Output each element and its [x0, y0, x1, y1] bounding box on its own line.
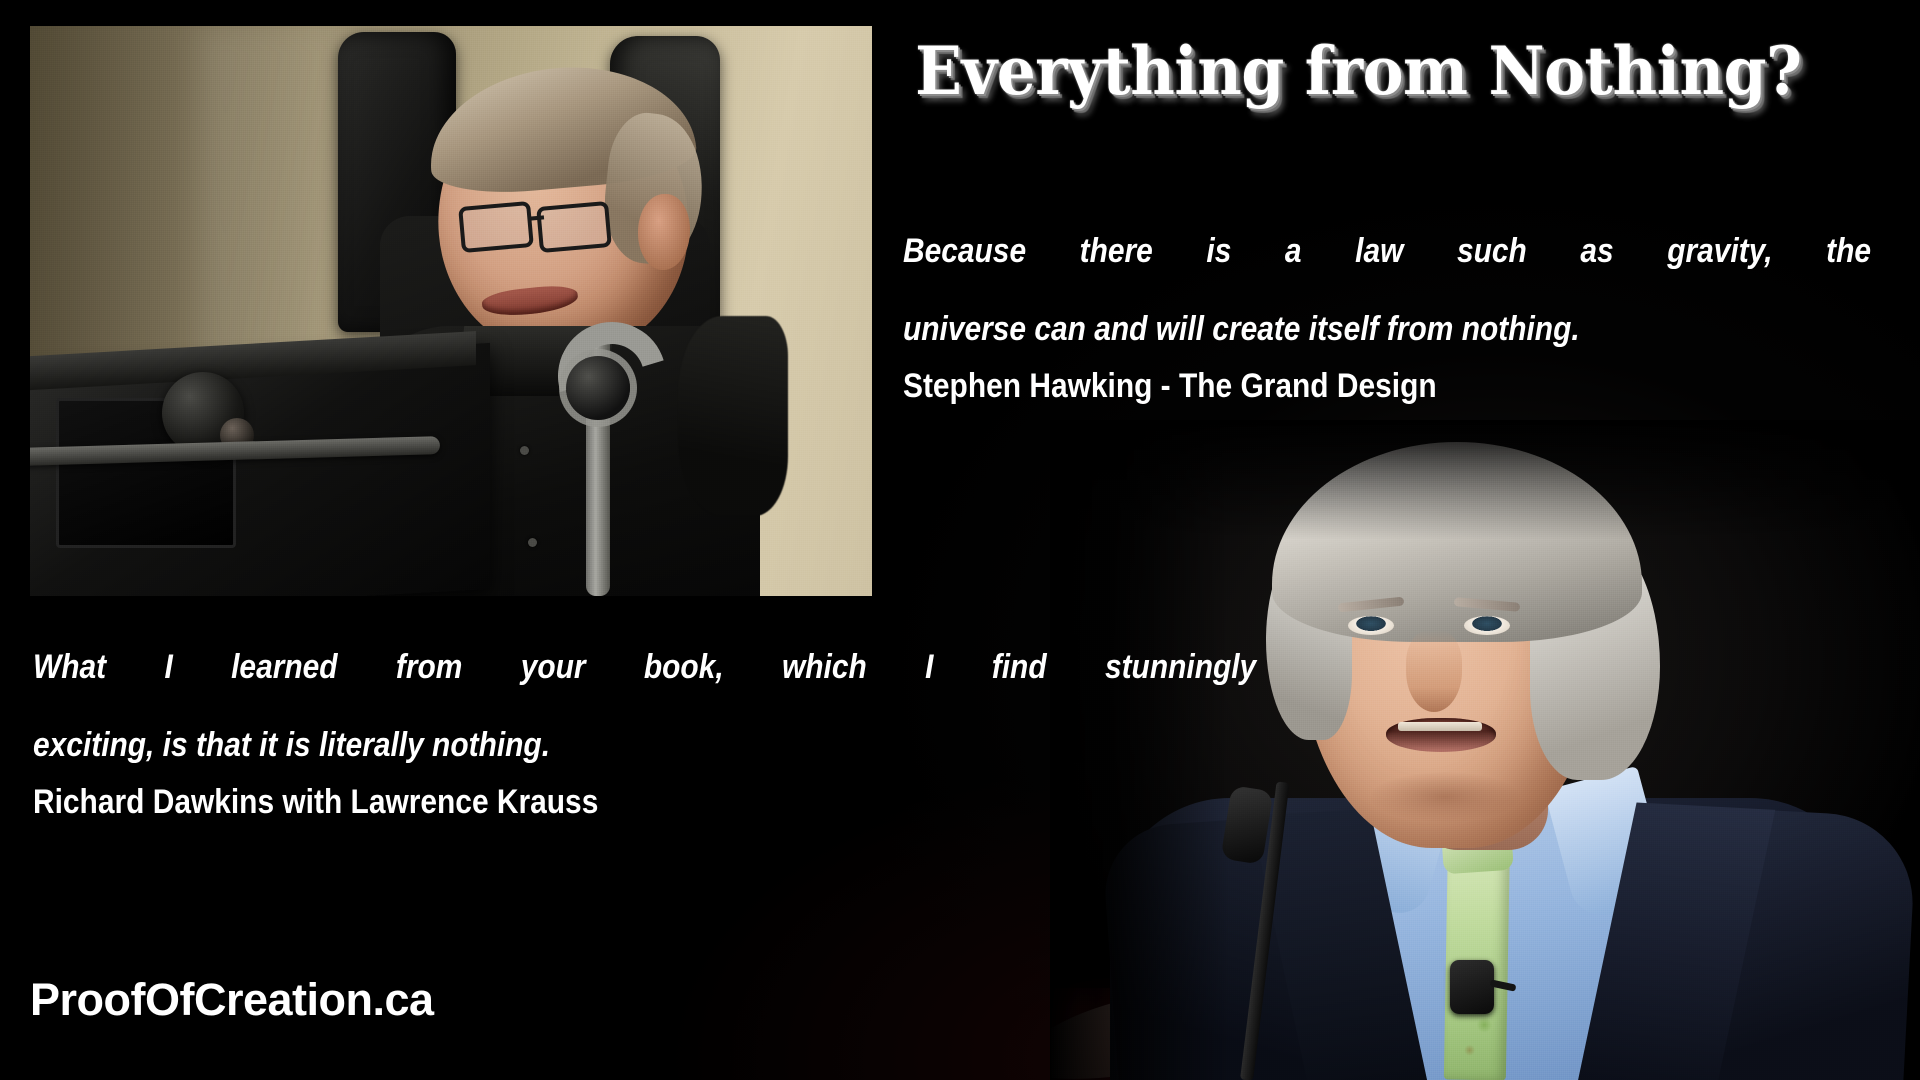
glasses-lens-left [458, 201, 534, 253]
quote-line: exciting, is that it is literally nothin… [33, 726, 1256, 765]
shirt-button-lower [528, 538, 537, 547]
quote-block-hawking: Because there is a law such as gravity, … [903, 232, 1920, 406]
microphone-head [566, 356, 630, 420]
quote-attribution-hawking: Stephen Hawking - The Grand Design [903, 368, 1871, 405]
quote-line: What I learned from your book, which I f… [33, 648, 1256, 726]
quote-line: universe can and will create itself from… [903, 310, 1871, 349]
eye-left [1348, 616, 1394, 635]
quote-text-dawkins: What I learned from your book, which I f… [33, 648, 1256, 764]
photo-top-fade [1050, 420, 1920, 540]
eye-right [1464, 616, 1510, 635]
lapel-microphone [1450, 960, 1494, 1014]
quote-block-dawkins: What I learned from your book, which I f… [33, 648, 1423, 822]
quote-line: Because there is a law such as gravity, … [903, 232, 1871, 310]
quote-attribution-dawkins: Richard Dawkins with Lawrence Krauss [33, 784, 1256, 821]
wheelchair-shoulder-support [678, 316, 788, 516]
shirt-button-upper [520, 446, 529, 455]
glasses-lens-right [536, 201, 612, 253]
poster-canvas: Everything from Nothing? Because there i… [0, 0, 1920, 1080]
quote-text-hawking: Because there is a law such as gravity, … [903, 232, 1871, 348]
hawking-photo [30, 26, 872, 596]
site-url[interactable]: ProofOfCreation.ca [30, 974, 434, 1026]
poster-title: Everything from Nothing? [905, 38, 1812, 104]
